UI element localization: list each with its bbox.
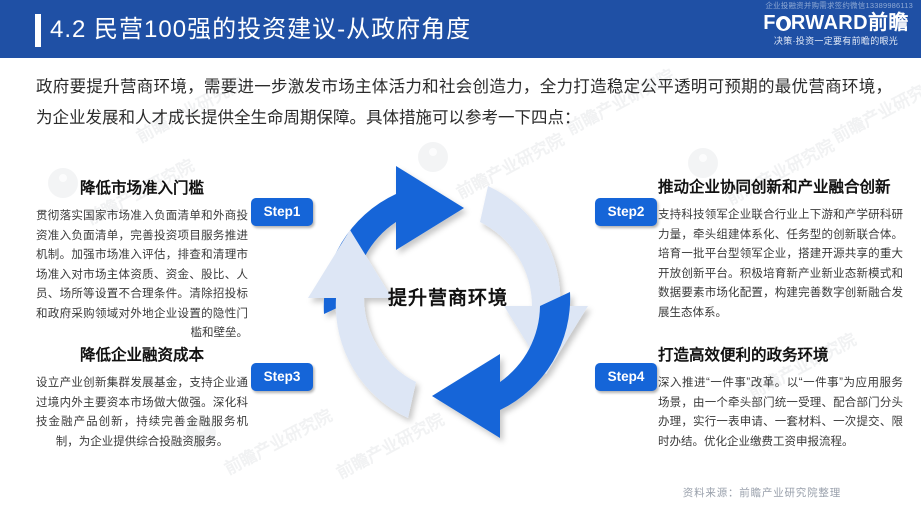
- cycle-center-label: 提升营商环境: [288, 283, 608, 310]
- forward-logo: FRWARD前瞻 决策·投资一定要有前瞻的眼光: [761, 12, 911, 48]
- source-note: 资料来源：前瞻产业研究院整理: [683, 485, 841, 500]
- content-block-2: 推动企业协同创新和产业融合创新 支持科技领军企业联合行业上下游和产学研科研力量，…: [658, 177, 903, 323]
- content-block-3-body: 设立产业创新集群发展基金，支持企业通过境内外主要资本市场做大做强。深化科技金融产…: [36, 374, 248, 452]
- cycle-arrow-4: [308, 230, 416, 418]
- step-badge-2[interactable]: Step2: [595, 198, 657, 226]
- content-block-4: 打造高效便利的政务环境 深入推进“一件事”改革。以“一件事”为应用服务场景，由一…: [658, 345, 903, 452]
- watermark-badge: [688, 148, 718, 178]
- content-block-3: 降低企业融资成本 设立产业创新集群发展基金，支持企业通过境内外主要资本市场做大做…: [36, 345, 248, 452]
- content-block-1-body: 贯彻落实国家市场准入负面清单和外商投资准入负面清单，完善投资项目服务推进机制。加…: [36, 207, 248, 344]
- slide-header: 4.2 民营100强的投资建议-从政府角度 企业投融资并购需求签约微信13389…: [0, 0, 921, 58]
- cycle-arrow-3: [432, 292, 570, 438]
- logo-globe-icon: [776, 16, 791, 31]
- page-title: 4.2 民营100强的投资建议-从政府角度: [50, 13, 471, 46]
- content-block-2-title: 推动企业协同创新和产业融合创新: [658, 177, 903, 199]
- step-badge-4[interactable]: Step4: [595, 363, 657, 391]
- logo-tagline: 决策·投资一定要有前瞻的眼光: [761, 34, 911, 48]
- slide-root: 4.2 民营100强的投资建议-从政府角度 企业投融资并购需求签约微信13389…: [0, 0, 921, 514]
- header-accent-bar: [35, 14, 41, 47]
- content-block-4-title: 打造高效便利的政务环境: [658, 345, 903, 367]
- content-block-3-title: 降低企业融资成本: [36, 345, 248, 367]
- content-block-2-body: 支持科技领军企业联合行业上下游和产学研科研力量，牵头组建体系化、任务型的创新联合…: [658, 206, 903, 323]
- logo-letter-f: F: [763, 12, 776, 34]
- logo-wordmark-rest: RWARD前瞻: [791, 12, 909, 34]
- step-badge-3[interactable]: Step3: [251, 363, 313, 391]
- content-block-1: 降低市场准入门槛 贯彻落实国家市场准入负面清单和外商投资准入负面清单，完善投资项…: [36, 178, 248, 344]
- content-block-4-body: 深入推进“一件事”改革。以“一件事”为应用服务场景，由一个牵头部门统一受理、配合…: [658, 374, 903, 452]
- step-badge-1[interactable]: Step1: [251, 198, 313, 226]
- content-block-1-title: 降低市场准入门槛: [36, 178, 248, 200]
- promo-contact-text: 企业投融资并购需求签约微信13389986113: [765, 0, 913, 11]
- intro-paragraph: 政府要提升营商环境，需要进一步激发市场主体活力和社会创造力，全力打造稳定公平透明…: [36, 72, 892, 134]
- logo-wordmark: FRWARD前瞻: [761, 12, 911, 34]
